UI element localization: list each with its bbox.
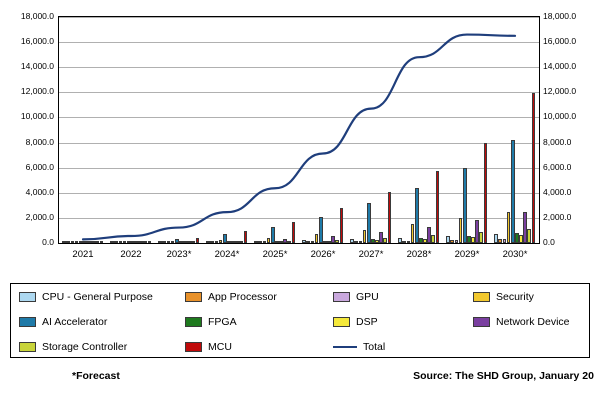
legend-swatch-icon [333, 317, 350, 327]
legend-swatch-icon [473, 292, 490, 302]
legend-swatch-icon [19, 292, 36, 302]
legend-item[interactable]: Storage Controller [19, 341, 185, 353]
x-axis-tick: 2025* [251, 249, 299, 260]
y-axis-left-tick: 14,000.0 [0, 62, 54, 71]
chart-total-line [59, 17, 539, 243]
y-axis-left-tick: 12,000.0 [0, 87, 54, 96]
y-axis-right-tick: 18,000.0 [543, 12, 599, 21]
y-axis-left-tick: 2,000.0 [0, 213, 54, 222]
legend-item-label: Total [363, 341, 385, 353]
x-axis-tick: 2028* [395, 249, 443, 260]
y-axis-right-tick: 8,000.0 [543, 138, 599, 147]
y-axis-left-tick: 10,000.0 [0, 112, 54, 121]
x-axis-tick: 2024* [203, 249, 251, 260]
legend-item[interactable]: MCU [185, 341, 333, 353]
total-line-svg [59, 17, 539, 243]
forecast-note: *Forecast [72, 370, 120, 382]
legend-item-label: MCU [208, 341, 232, 353]
legend-item-label: CPU - General Purpose [42, 291, 153, 303]
y-axis-left-tick: 0.0 [0, 238, 54, 247]
chart-plot-area: 0.02,000.04,000.06,000.08,000.010,000.01… [0, 0, 600, 270]
y-axis-right-tick: 6,000.0 [543, 163, 599, 172]
y-axis-right-tick: 0.0 [543, 238, 599, 247]
x-axis-tick: 2021 [59, 249, 107, 260]
legend-swatch-icon [333, 292, 350, 302]
y-axis-left-tick: 6,000.0 [0, 163, 54, 172]
chart-footer: *Forecast Source: The SHD Group, January… [0, 366, 600, 396]
x-axis-tick: 2029* [443, 249, 491, 260]
y-axis-left-tick: 8,000.0 [0, 138, 54, 147]
legend-item-label: Network Device [496, 316, 570, 328]
source-note: Source: The SHD Group, January 20 [413, 370, 594, 382]
y-axis-right-tick: 4,000.0 [543, 188, 599, 197]
y-axis-right-tick: 12,000.0 [543, 87, 599, 96]
legend-item[interactable]: FPGA [185, 316, 333, 328]
legend-item[interactable]: Total [333, 341, 473, 353]
x-axis-tick: 2022 [107, 249, 155, 260]
legend-item[interactable]: GPU [333, 291, 473, 303]
y-axis-right-tick: 2,000.0 [543, 213, 599, 222]
legend-swatch-icon [185, 317, 202, 327]
legend-item[interactable]: CPU - General Purpose [19, 291, 185, 303]
legend-swatch-icon [185, 292, 202, 302]
legend-line-icon [333, 346, 357, 348]
legend-item[interactable]: AI Accelerator [19, 316, 185, 328]
y-axis-right-tick: 14,000.0 [543, 62, 599, 71]
y-axis-right-tick: 16,000.0 [543, 37, 599, 46]
x-axis-tick: 2027* [347, 249, 395, 260]
y-axis-left-tick: 4,000.0 [0, 188, 54, 197]
x-axis-tick: 2030* [491, 249, 539, 260]
legend-item[interactable]: Network Device [473, 316, 589, 328]
legend-item[interactable]: App Processor [185, 291, 333, 303]
legend-swatch-icon [185, 342, 202, 352]
x-axis-tick: 2023* [155, 249, 203, 260]
x-axis-tick: 2026* [299, 249, 347, 260]
legend-swatch-icon [19, 317, 36, 327]
legend-item[interactable]: DSP [333, 316, 473, 328]
legend-swatch-icon [473, 317, 490, 327]
legend-item-label: Storage Controller [42, 341, 127, 353]
chart-legend: CPU - General PurposeApp ProcessorGPUSec… [10, 283, 590, 358]
legend-item-label: AI Accelerator [42, 316, 107, 328]
legend-item-label: Security [496, 291, 534, 303]
legend-swatch-icon [19, 342, 36, 352]
y-axis-right-tick: 10,000.0 [543, 112, 599, 121]
legend-item-label: GPU [356, 291, 379, 303]
legend-item-label: DSP [356, 316, 378, 328]
legend-item-label: FPGA [208, 316, 237, 328]
chart-screenshot: 0.02,000.04,000.06,000.08,000.010,000.01… [0, 0, 600, 400]
legend-item-label: App Processor [208, 291, 277, 303]
legend-item[interactable]: Security [473, 291, 589, 303]
y-axis-left-tick: 18,000.0 [0, 12, 54, 21]
y-axis-left-tick: 16,000.0 [0, 37, 54, 46]
